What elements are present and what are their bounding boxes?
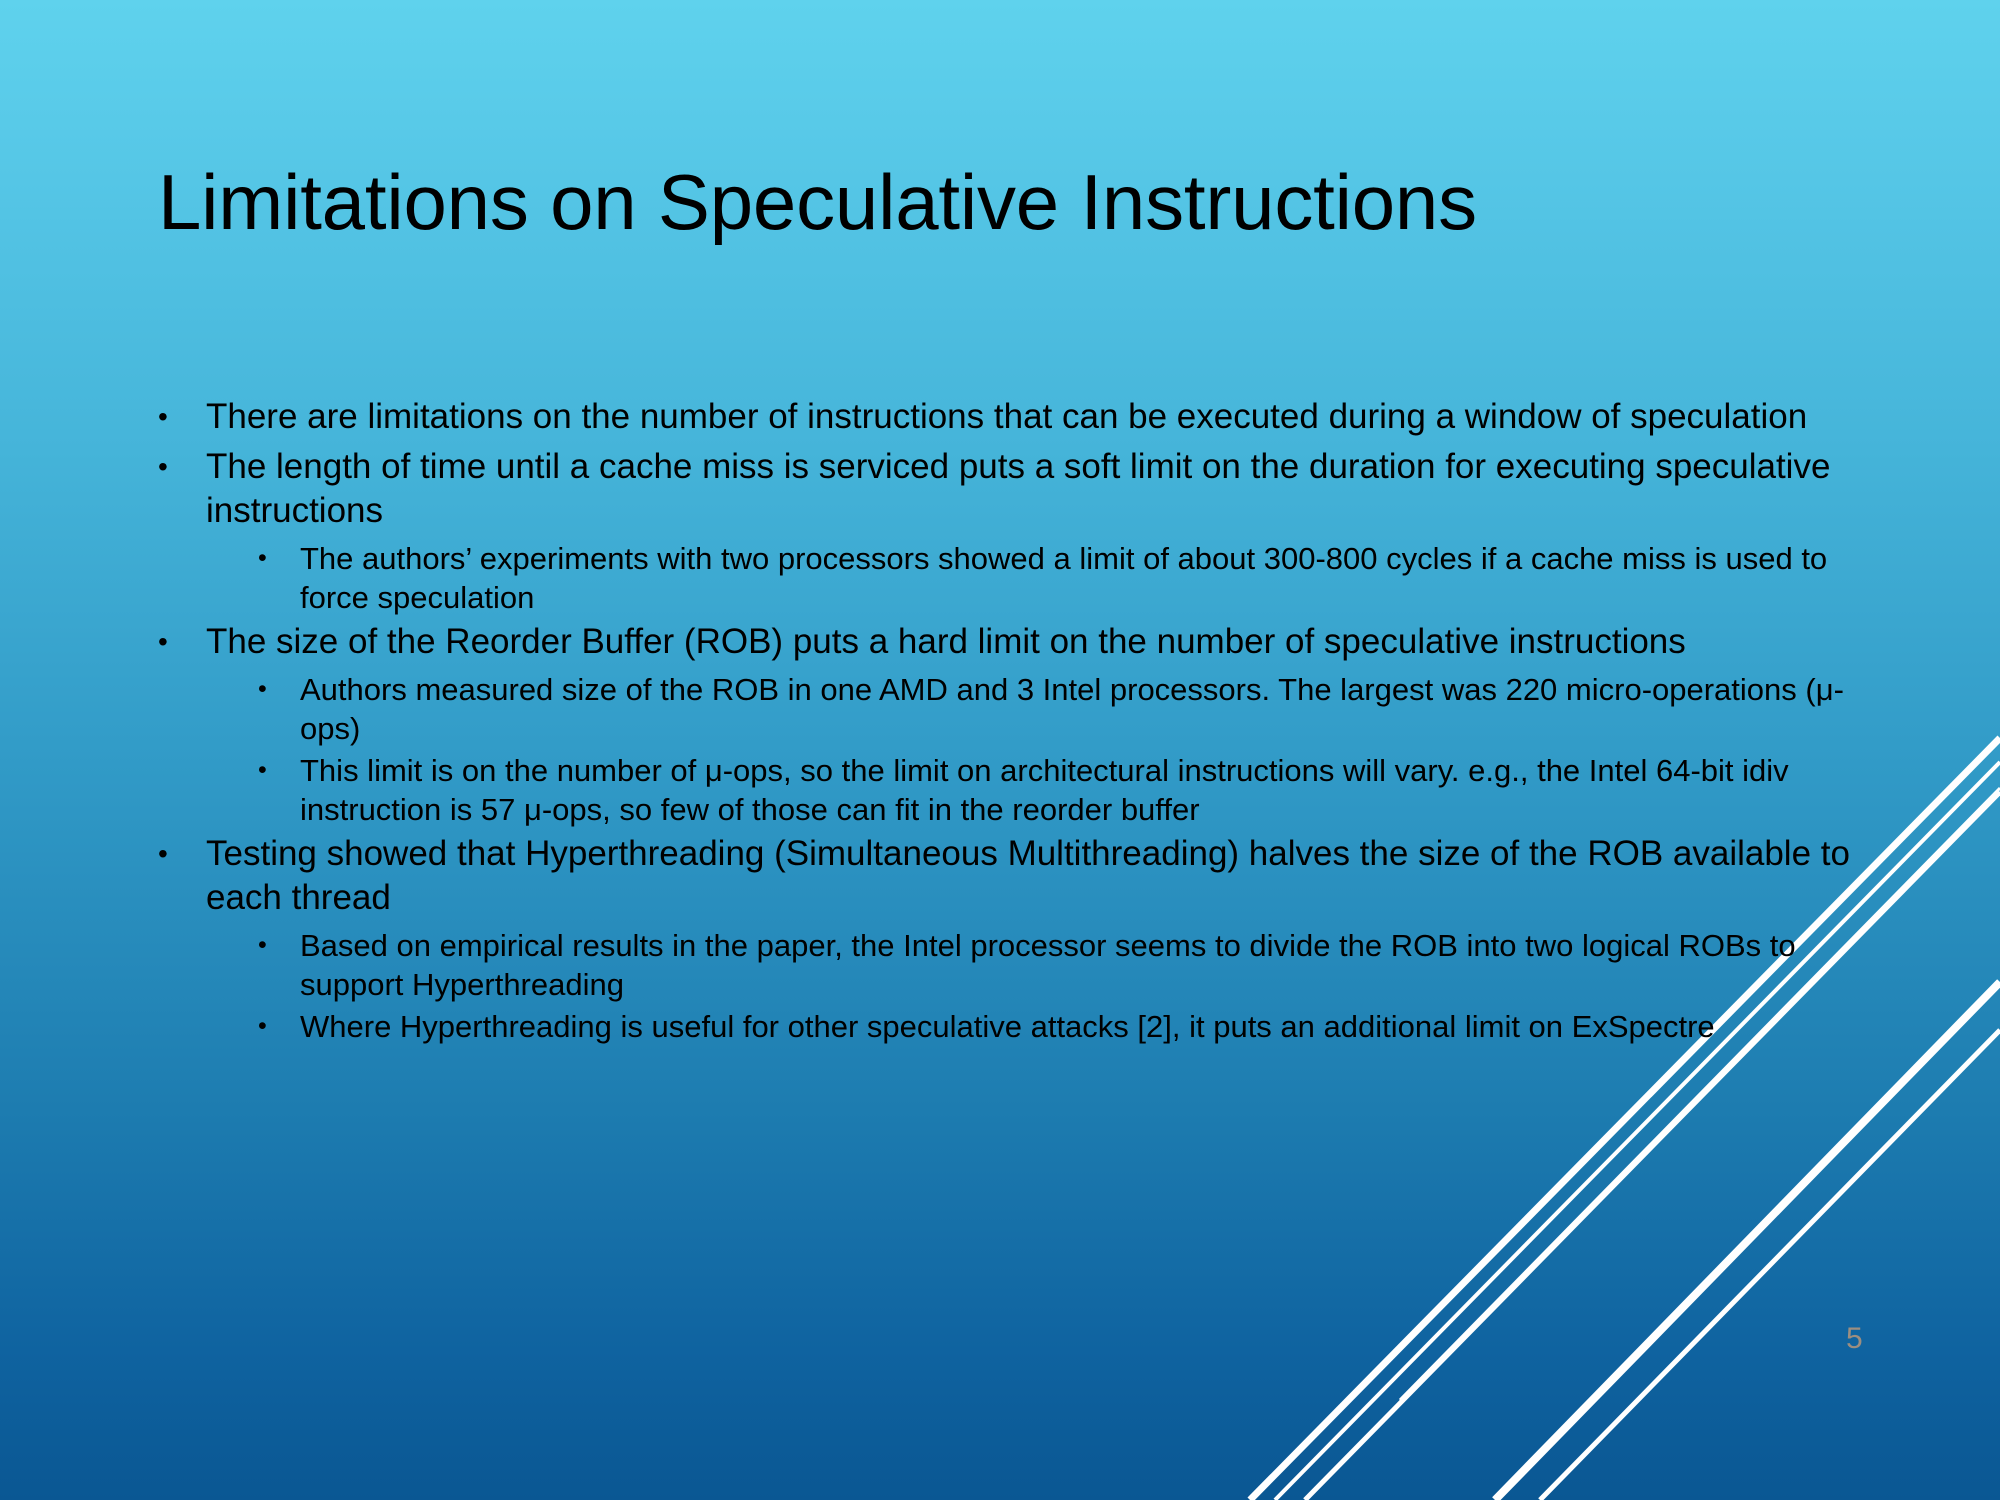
list-item: • This limit is on the number of μ-ops, … [0,751,1900,829]
list-item: • The authors’ experiments with two proc… [0,539,1900,617]
bullet-glyph-icon: • [158,445,206,489]
list-item-text: Testing showed that Hyperthreading (Simu… [206,832,1900,920]
list-item-text: The authors’ experiments with two proces… [300,539,1900,617]
list-item: • The size of the Reorder Buffer (ROB) p… [0,620,1900,664]
slide-page-number: 5 [1846,1322,1863,1356]
list-item-text: Where Hyperthreading is useful for other… [300,1007,1900,1046]
list-item-text: The size of the Reorder Buffer (ROB) put… [206,620,1900,664]
bullet-glyph-icon: • [258,539,300,578]
list-item: • Authors measured size of the ROB in on… [0,670,1900,748]
list-item: • Based on empirical results in the pape… [0,926,1900,1004]
list-item-text: This limit is on the number of μ-ops, so… [300,751,1900,829]
page-title: Limitations on Speculative Instructions [158,163,1858,241]
list-item-text: The length of time until a cache miss is… [206,445,1900,533]
bullet-glyph-icon: • [158,620,206,664]
slide-body-content: • There are limitations on the number of… [0,395,1900,1049]
list-item-text: Authors measured size of the ROB in one … [300,670,1900,748]
bullet-glyph-icon: • [158,832,206,876]
bullet-glyph-icon: • [158,395,206,439]
bullet-glyph-icon: • [258,1007,300,1046]
list-item-text: There are limitations on the number of i… [206,395,1900,439]
bullet-glyph-icon: • [258,751,300,790]
list-item: • The length of time until a cache miss … [0,445,1900,533]
bullet-glyph-icon: • [258,926,300,965]
bullet-glyph-icon: • [258,670,300,709]
presentation-slide: Limitations on Speculative Instructions … [0,0,2000,1500]
list-item-text: Based on empirical results in the paper,… [300,926,1900,1004]
list-item: • Where Hyperthreading is useful for oth… [0,1007,1900,1046]
list-item: • There are limitations on the number of… [0,395,1900,439]
list-item: • Testing showed that Hyperthreading (Si… [0,832,1900,920]
